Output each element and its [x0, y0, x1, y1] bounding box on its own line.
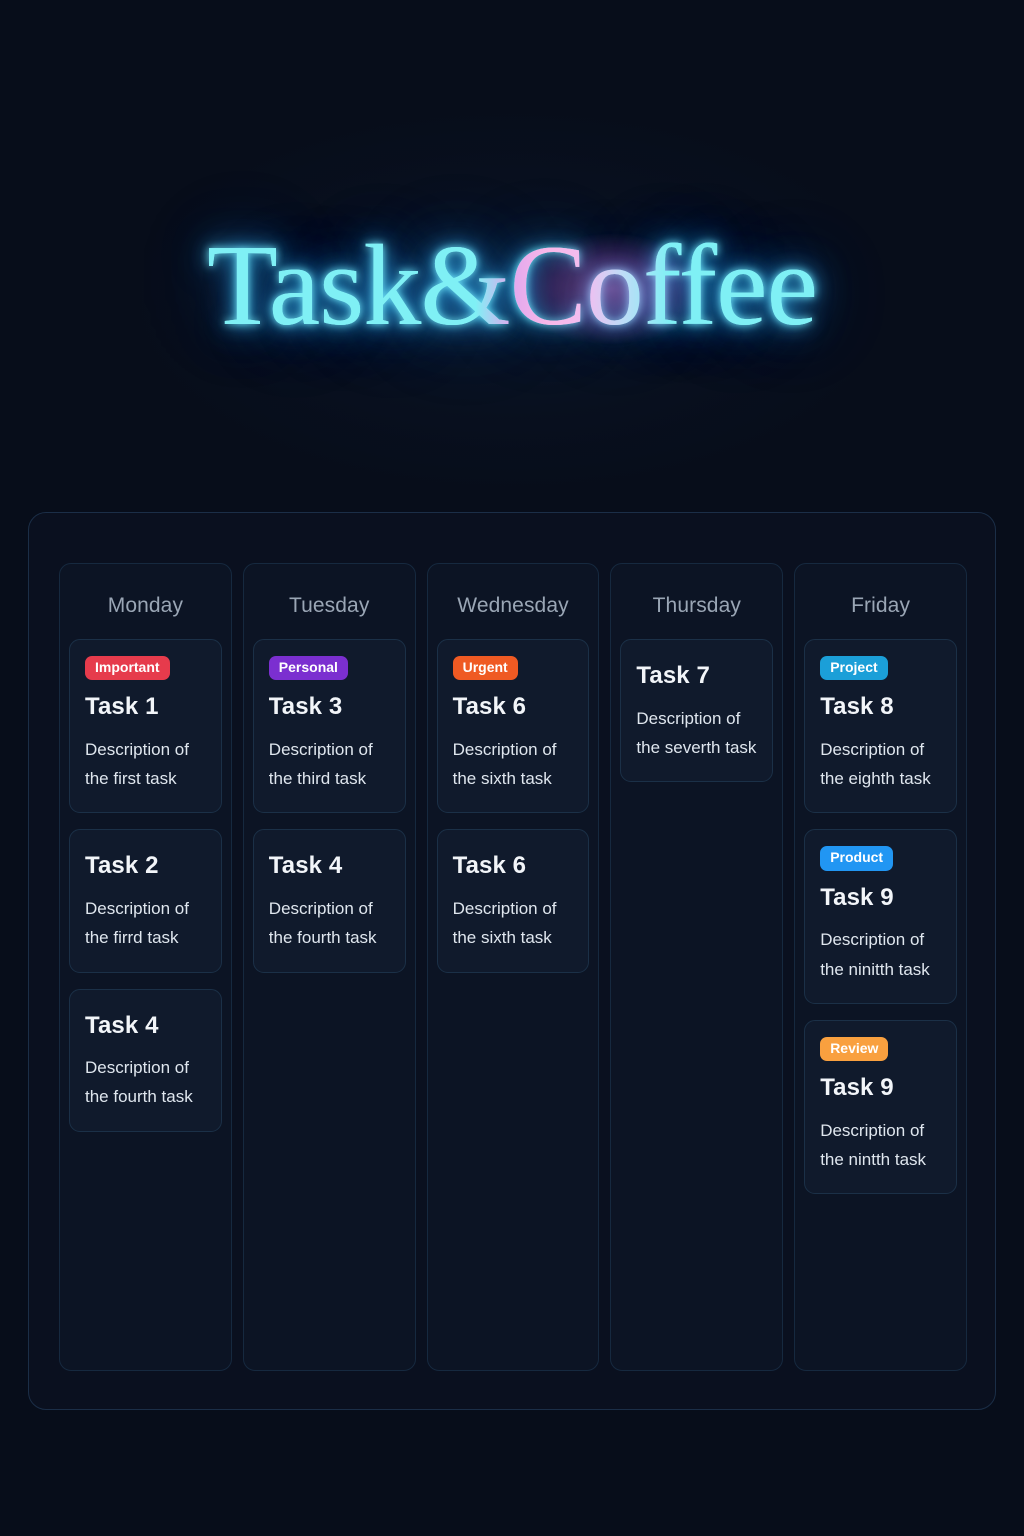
task-title: Task 3	[269, 693, 390, 721]
task-title: Task 9	[820, 1074, 941, 1102]
task-badge[interactable]: Project	[820, 656, 887, 680]
day-column-friday[interactable]: FridayProjectTask 8Description of the ei…	[794, 563, 967, 1371]
task-title: Task 2	[85, 852, 206, 880]
task-description: Description of the ninitth task	[820, 925, 941, 983]
task-card[interactable]: ProductTask 9Description of the ninitth …	[804, 829, 957, 1003]
task-card[interactable]: ImportantTask 1Description of the first …	[69, 639, 222, 813]
task-card[interactable]: Task 4Description of the fourth task	[69, 989, 222, 1132]
task-description: Description of the first task	[85, 735, 206, 793]
task-description: Description of the sixth task	[453, 894, 574, 952]
task-title: Task 7	[636, 662, 757, 690]
task-title: Task 4	[269, 852, 390, 880]
task-card[interactable]: Task 2Description of the firrd task	[69, 829, 222, 972]
day-column-thursday[interactable]: ThursdayTask 7Description of the severth…	[610, 563, 783, 1371]
day-column-wednesday[interactable]: WednesdayUrgentTask 6Description of the …	[427, 563, 600, 1371]
task-card-list: ImportantTask 1Description of the first …	[69, 639, 222, 1132]
task-title: Task 6	[453, 852, 574, 880]
day-header-label: Wednesday	[437, 574, 590, 639]
task-description: Description of the firrd task	[85, 894, 206, 952]
task-card-list: PersonalTask 3Description of the third t…	[253, 639, 406, 973]
task-title: Task 6	[453, 693, 574, 721]
app-title-text: Task&Coffee	[207, 222, 817, 350]
task-title: Task 8	[820, 693, 941, 721]
task-card-list: UrgentTask 6Description of the sixth tas…	[437, 639, 590, 973]
task-description: Description of the fourth task	[85, 1053, 206, 1111]
task-card[interactable]: ProjectTask 8Description of the eighth t…	[804, 639, 957, 813]
task-card[interactable]: Task 6Description of the sixth task	[437, 829, 590, 972]
task-card-list: Task 7Description of the severth task	[620, 639, 773, 782]
task-badge[interactable]: Important	[85, 656, 170, 680]
app-title: Task&Coffee Task&Coffee	[207, 228, 817, 344]
day-column-monday[interactable]: MondayImportantTask 1Description of the …	[59, 563, 232, 1371]
day-header-label: Monday	[69, 574, 222, 639]
task-card-list: ProjectTask 8Description of the eighth t…	[804, 639, 957, 1194]
day-header-label: Friday	[804, 574, 957, 639]
task-title: Task 1	[85, 693, 206, 721]
task-badge[interactable]: Urgent	[453, 656, 518, 680]
task-board-panel: MondayImportantTask 1Description of the …	[28, 512, 996, 1410]
task-card[interactable]: Task 4Description of the fourth task	[253, 829, 406, 972]
day-header-label: Thursday	[620, 574, 773, 639]
task-title: Task 9	[820, 884, 941, 912]
task-badge[interactable]: Product	[820, 846, 893, 870]
task-description: Description of the severth task	[636, 704, 757, 762]
task-description: Description of the fourth task	[269, 894, 390, 952]
task-badge[interactable]: Personal	[269, 656, 348, 680]
app-header: Task&Coffee Task&Coffee	[0, 228, 1024, 344]
day-header-label: Tuesday	[253, 574, 406, 639]
task-description: Description of the sixth task	[453, 735, 574, 793]
task-badge[interactable]: Review	[820, 1037, 888, 1061]
task-description: Description of the third task	[269, 735, 390, 793]
task-card[interactable]: ReviewTask 9Description of the nintth ta…	[804, 1020, 957, 1194]
task-card[interactable]: Task 7Description of the severth task	[620, 639, 773, 782]
day-column-tuesday[interactable]: TuesdayPersonalTask 3Description of the …	[243, 563, 416, 1371]
task-title: Task 4	[85, 1012, 206, 1040]
task-description: Description of the nintth task	[820, 1116, 941, 1174]
task-description: Description of the eighth task	[820, 735, 941, 793]
task-card[interactable]: UrgentTask 6Description of the sixth tas…	[437, 639, 590, 813]
day-columns: MondayImportantTask 1Description of the …	[59, 563, 967, 1371]
task-card[interactable]: PersonalTask 3Description of the third t…	[253, 639, 406, 813]
